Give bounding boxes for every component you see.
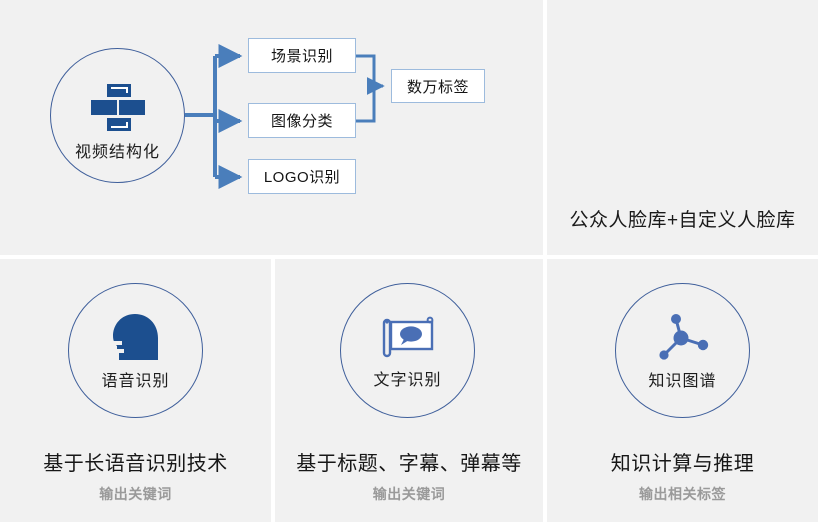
flow-box-logo-label: LOGO识别 [264, 166, 340, 187]
caption-kg: 知识计算与推理 [547, 447, 818, 476]
speech-recognition-icon [108, 312, 164, 362]
flow-box-tags[interactable]: 数万标签 [391, 69, 485, 103]
panel-face-recognition: 人脸识别 公众人脸库+自定义人脸库 [547, 0, 818, 255]
circle-label-text: 文字识别 [373, 373, 441, 389]
knowledge-graph-icon [655, 312, 711, 362]
subcaption-kg: 输出相关标签 [547, 484, 818, 504]
caption-text: 基于标题、字幕、弹幕等 [275, 447, 543, 476]
flow-box-logo[interactable]: LOGO识别 [248, 159, 356, 194]
caption-face: 公众人脸库+自定义人脸库 [547, 205, 818, 232]
video-structuring-icon [88, 83, 148, 133]
flow-box-scene[interactable]: 场景识别 [248, 38, 356, 73]
circle-knowledge-graph[interactable]: 知识图谱 [615, 283, 750, 418]
flow-box-image-classification[interactable]: 图像分类 [248, 103, 356, 138]
circle-video-structuring[interactable]: 视频结构化 [50, 48, 185, 183]
subcaption-text: 输出关键词 [275, 484, 543, 504]
circle-label-kg: 知识图谱 [648, 374, 716, 390]
flow-box-scene-label: 场景识别 [271, 45, 333, 66]
circle-text-recognition[interactable]: 文字识别 [340, 283, 475, 418]
circle-speech-recognition[interactable]: 语音识别 [68, 283, 203, 418]
caption-speech: 基于长语音识别技术 [0, 447, 271, 476]
subcaption-speech: 输出关键词 [0, 484, 271, 504]
panel-video-structuring: 视频结构化 场景识别 图像分类 LOGO识别 数万标签 [0, 0, 543, 255]
circle-label-video: 视频结构化 [75, 145, 160, 161]
circle-label-speech: 语音识别 [101, 374, 169, 390]
flow-box-image-classification-label: 图像分类 [271, 110, 333, 131]
flow-box-tags-label: 数万标签 [407, 76, 469, 97]
text-recognition-icon [380, 313, 436, 361]
infographic-root: 视频结构化 场景识别 图像分类 LOGO识别 数万标签 [0, 0, 818, 522]
